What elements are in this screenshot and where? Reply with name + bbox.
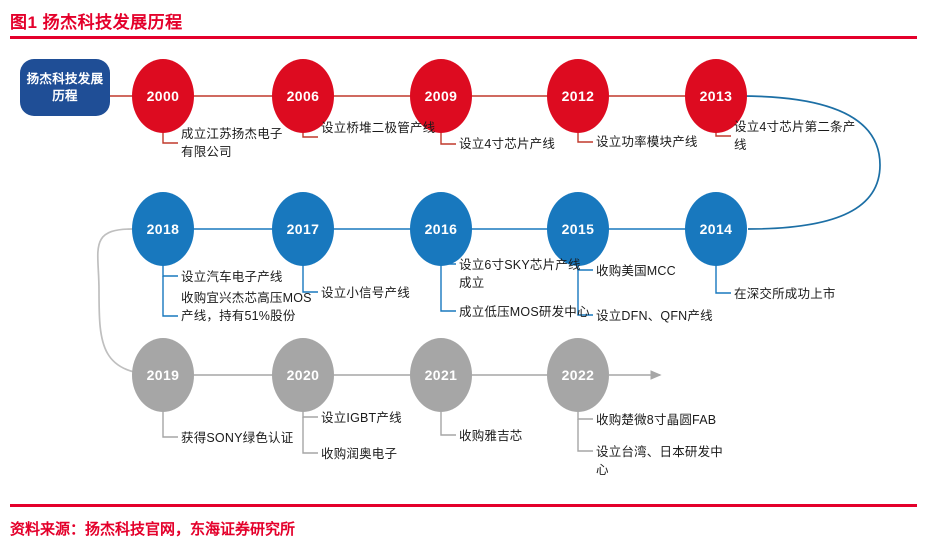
event-label-2021-1: 收购雅吉芯	[459, 427, 609, 445]
footer-divider	[10, 504, 917, 507]
figure-root: 图1 扬杰科技发展历程	[0, 0, 927, 553]
event-label-2022-1: 收购楚微8寸晶圆FAB	[596, 411, 746, 429]
event-label-2015-1: 收购美国MCC	[596, 262, 746, 280]
event-label-2019-1: 获得SONY绿色认证	[181, 429, 331, 447]
event-label-2020-2: 收购润奥电子	[321, 445, 471, 463]
event-label-2012-1: 设立功率模块产线	[596, 133, 746, 151]
timeline-node-2016[interactable]: 2016	[410, 192, 472, 266]
event-label-2022-2: 设立台湾、日本研发中心	[596, 443, 728, 479]
source-note: 资料来源：扬杰科技官网，东海证券研究所	[10, 518, 295, 539]
event-label-2000-1: 成立江苏扬杰电子有限公司	[181, 125, 286, 161]
timeline-node-2012[interactable]: 2012	[547, 59, 609, 133]
timeline-node-2015[interactable]: 2015	[547, 192, 609, 266]
event-label-2006-1: 设立桥堆二极管产线	[321, 119, 441, 137]
timeline-node-2014[interactable]: 2014	[685, 192, 747, 266]
start-badge: 扬杰科技发展历程	[20, 59, 110, 116]
timeline-node-2022[interactable]: 2022	[547, 338, 609, 412]
event-label-2018-1: 设立汽车电子产线	[181, 268, 313, 286]
curve-right-turn	[740, 96, 880, 229]
event-label-2009-1: 设立4寸芯片产线	[459, 135, 609, 153]
timeline-node-2017[interactable]: 2017	[272, 192, 334, 266]
timeline-node-2021[interactable]: 2021	[410, 338, 472, 412]
event-label-2015-2: 设立DFN、QFN产线	[596, 307, 746, 325]
timeline-node-2019[interactable]: 2019	[132, 338, 194, 412]
event-label-2016-2: 成立低压MOS研发中心	[459, 303, 591, 321]
event-label-2017-1: 设立小信号产线	[321, 284, 471, 302]
event-label-2016-1: 设立6寸SKY芯片产线成立	[459, 256, 591, 292]
header-divider	[10, 36, 917, 39]
event-label-2018-2: 收购宜兴杰芯高压MOS产线，持有51%股份	[181, 289, 313, 325]
timeline-node-2020[interactable]: 2020	[272, 338, 334, 412]
timeline-node-2000[interactable]: 2000	[132, 59, 194, 133]
event-label-2014-1: 在深交所成功上市	[734, 285, 884, 303]
page-title: 图1 扬杰科技发展历程	[10, 8, 183, 33]
timeline-node-2018[interactable]: 2018	[132, 192, 194, 266]
event-label-2020-1: 设立IGBT产线	[321, 409, 471, 427]
event-label-2013-1: 设立4寸芯片第二条产线	[734, 118, 866, 154]
